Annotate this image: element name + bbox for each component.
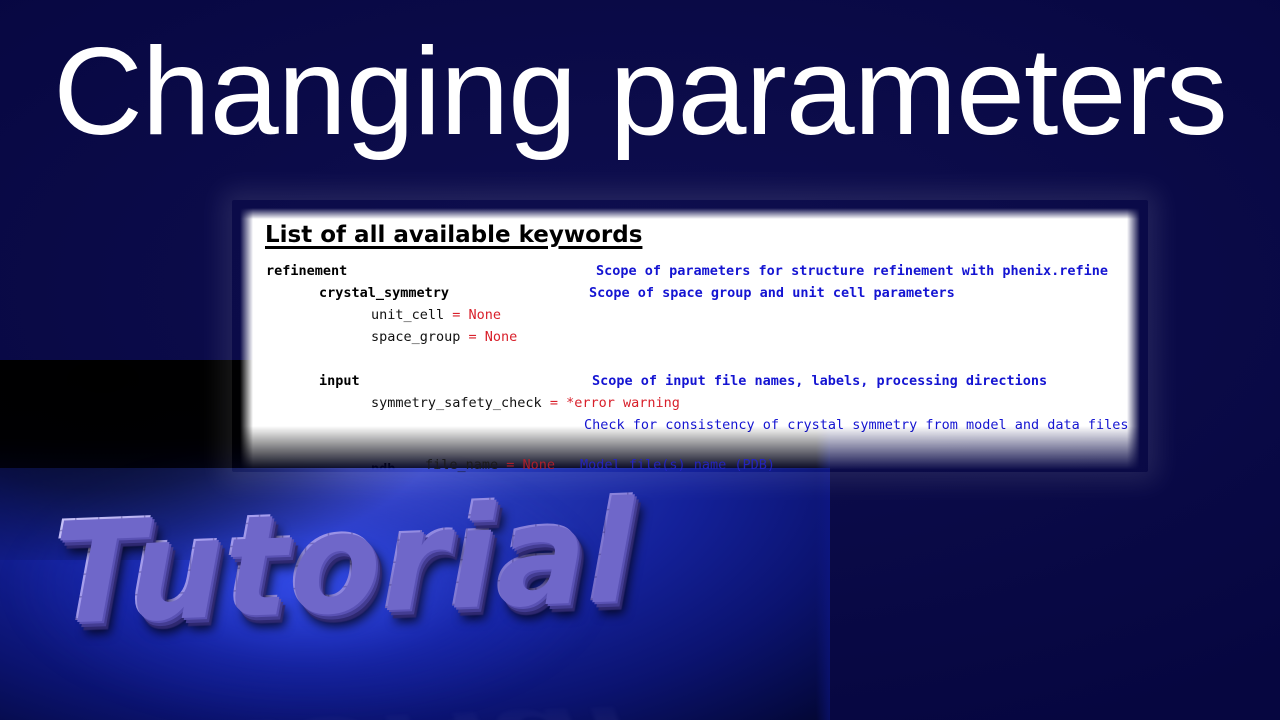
keyword-spacer [240,348,1140,370]
keyword-scope-label: crystal_symmetry [319,282,449,304]
parameter-equals: = [460,329,484,345]
keyword-row: unit_cell = None [240,304,1140,326]
keyword-description: Check for consistency of crystal symmetr… [584,414,1129,436]
keyword-scope-label: refinement [266,260,347,282]
tutorial-word: Tutorial [52,481,633,643]
keyword-row: crystal_symmetryScope of space group and… [240,282,1140,304]
parameter-name: symmetry_safety_check [371,395,542,411]
keyword-row: Check for consistency of crystal symmetr… [240,414,1140,436]
parameter-name: space_group [371,329,460,345]
overflow-description: Model file(s) name (PDB) [580,454,775,476]
keyword-list-overflow-line: file_name = NoneModel file(s) name (PDB) [240,454,1140,476]
parameter-equals: = [444,307,468,323]
parameter-equals: = [498,457,522,473]
keywords-screenshot-panel: List of all available keywords refinemen… [240,208,1140,470]
parameter-name: unit_cell [371,307,444,323]
keyword-description: Scope of space group and unit cell param… [589,282,955,304]
keyword-row: refinementScope of parameters for struct… [240,260,1140,282]
parameter-value: *error warning [566,395,680,411]
keyword-scope-label: input [319,370,360,392]
parameter-equals: = [542,395,566,411]
parameter-value: None [485,329,518,345]
keyword-row: space_group = None [240,326,1140,348]
keyword-list: refinementScope of parameters for struct… [240,260,1140,470]
keyword-description: Scope of parameters for structure refine… [596,260,1108,282]
parameter-value: None [469,307,502,323]
slide-title: Changing parameters [0,30,1280,154]
keyword-description: Scope of input file names, labels, proce… [592,370,1047,392]
slide-root: Changing parameters Tutorial Tutorial Li… [0,0,1280,720]
keyword-parameter: unit_cell = None [371,304,501,326]
keyword-parameter: symmetry_safety_check = *error warning [371,392,680,414]
panel-heading: List of all available keywords [265,222,642,248]
keyword-parameter: space_group = None [371,326,517,348]
keyword-row: inputScope of input file names, labels, … [240,370,1140,392]
parameter-value: None [523,457,556,473]
keyword-row: symmetry_safety_check = *error warning [240,392,1140,414]
parameter-name: file_name [425,457,498,473]
overflow-parameter: file_name = None [425,454,555,476]
